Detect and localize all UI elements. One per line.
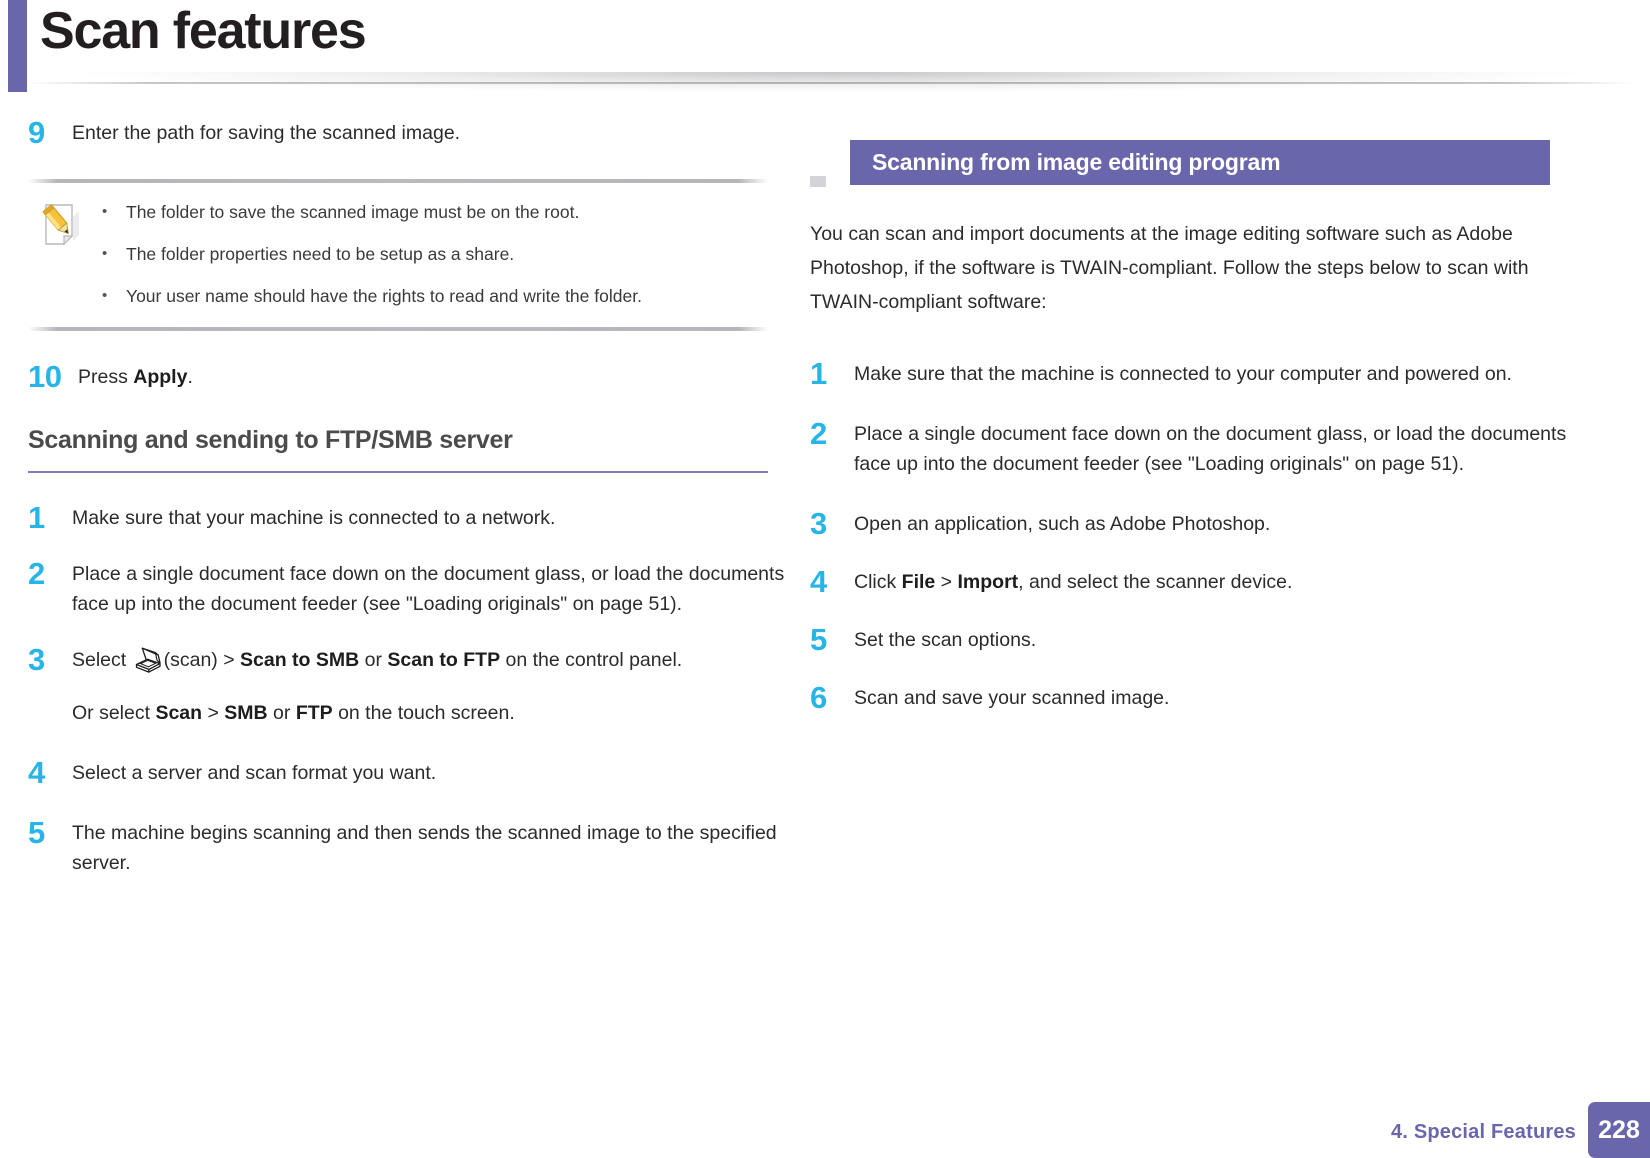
note-icon-cell (28, 200, 102, 253)
step-number: 1 (28, 503, 72, 533)
note-list: • The folder to save the scanned image m… (102, 200, 768, 308)
step-number: 4 (810, 567, 854, 597)
step-text: The machine begins scanning and then sen… (72, 818, 788, 878)
bullet-icon: • (102, 242, 126, 266)
substep-sep: > (202, 702, 224, 724)
step-text: Select (scan) > Scan to SMB or Scan to F… (72, 645, 788, 728)
step-text-post: , and select the scanner device. (1018, 571, 1292, 593)
step-number: 6 (810, 683, 854, 713)
substep-bold-2: SMB (224, 702, 267, 724)
step-number: 5 (28, 818, 72, 848)
step-text: Make sure that the machine is connected … (854, 359, 1570, 389)
step-item: 10 Press Apply. (28, 362, 788, 392)
scanner-icon (133, 647, 163, 682)
left-column: 9 Enter the path for saving the scanned … (28, 118, 788, 904)
step-text-bold-2: Import (958, 571, 1019, 593)
section-heading-rule (28, 471, 768, 473)
footer-page-number: 228 (1588, 1102, 1650, 1158)
section-heading-bar: Scanning from image editing program (850, 140, 1550, 185)
step-number: 9 (28, 118, 72, 148)
step-number: 5 (810, 625, 854, 655)
step-text: Set the scan options. (854, 625, 1570, 655)
step-text: Open an application, such as Adobe Photo… (854, 509, 1570, 539)
right-column: Scanning from image editing program You … (810, 140, 1570, 713)
bullet-icon: • (102, 284, 126, 308)
step-text: Press Apply. (78, 362, 788, 392)
step-text: Make sure that your machine is connected… (72, 503, 788, 533)
step-number: 2 (810, 419, 854, 449)
step-text-mid: (scan) > (164, 649, 240, 671)
intro-paragraph: You can scan and import documents at the… (810, 217, 1550, 319)
step-subtext: Or select Scan > SMB or FTP on the touch… (72, 698, 788, 728)
step-item: 3 Open an application, such as Adobe Pho… (810, 509, 1570, 539)
note-top-rule (28, 174, 768, 188)
step-text-post: . (187, 366, 192, 388)
step-item: 1 Make sure that the machine is connecte… (810, 359, 1570, 389)
step-item: 4 Click File > Import, and select the sc… (810, 567, 1570, 597)
step-text: Enter the path for saving the scanned im… (72, 118, 788, 148)
step-number: 10 (28, 362, 78, 392)
step-text-bold: Apply (133, 366, 187, 388)
note-item: • Your user name should have the rights … (102, 284, 768, 308)
step-text-bold-1: Scan to SMB (240, 649, 359, 671)
note-item-text: The folder to save the scanned image mus… (126, 200, 579, 224)
page-title: Scan features (40, 4, 365, 59)
step-text: Place a single document face down on the… (854, 419, 1570, 479)
step-item: 9 Enter the path for saving the scanned … (28, 118, 788, 148)
step-text-bold-1: File (902, 571, 936, 593)
note-item: • The folder to save the scanned image m… (102, 200, 768, 224)
bullet-icon: • (102, 200, 126, 224)
step-number: 2 (28, 559, 72, 589)
footer-section-label: 4. Special Features (1391, 1121, 1576, 1144)
substep-bold-1: Scan (155, 702, 202, 724)
step-number: 4 (28, 758, 72, 788)
step-item: 2 Place a single document face down on t… (810, 419, 1570, 479)
step-text-pre: Select (72, 649, 132, 671)
step-item: 4 Select a server and scan format you wa… (28, 758, 788, 788)
section-heading-label: Scanning from image editing program (872, 149, 1280, 176)
note-bottom-rule (28, 322, 768, 336)
step-item: 1 Make sure that your machine is connect… (28, 503, 788, 533)
step-text-sep: > (935, 571, 957, 593)
step-text: Place a single document face down on the… (72, 559, 788, 619)
note-item-text: Your user name should have the rights to… (126, 284, 642, 308)
header-divider (20, 72, 1640, 98)
step-text-or: or (359, 649, 387, 671)
step-text-pre: Press (78, 366, 133, 388)
substep-bold-3: FTP (296, 702, 333, 724)
step-text-post: on the control panel. (500, 649, 682, 671)
substep-or: or (268, 702, 296, 724)
page-footer: 4. Special Features 228 (1090, 1094, 1650, 1158)
step-item: 2 Place a single document face down on t… (28, 559, 788, 619)
substep-pre: Or select (72, 702, 155, 724)
note-item: • The folder properties need to be setup… (102, 242, 768, 266)
note-pencil-icon (40, 202, 82, 253)
step-text-bold-2: Scan to FTP (387, 649, 500, 671)
step-text: Scan and save your scanned image. (854, 683, 1570, 713)
section-heading-image-editing: Scanning from image editing program (810, 140, 1550, 187)
step-text: Select a server and scan format you want… (72, 758, 788, 788)
substep-post: on the touch screen. (333, 702, 515, 724)
step-text: Click File > Import, and select the scan… (854, 567, 1570, 597)
section-heading-ftp-smb: Scanning and sending to FTP/SMB server (28, 426, 788, 455)
page-header: Scan features (0, 0, 1650, 100)
note-box: • The folder to save the scanned image m… (28, 174, 768, 336)
step-number: 3 (28, 645, 72, 675)
section-heading-tab (810, 176, 826, 187)
step-number: 1 (810, 359, 854, 389)
step-text-pre: Click (854, 571, 902, 593)
step-item: 6 Scan and save your scanned image. (810, 683, 1570, 713)
note-item-text: The folder properties need to be setup a… (126, 242, 514, 266)
step-number: 3 (810, 509, 854, 539)
step-item: 5 The machine begins scanning and then s… (28, 818, 788, 878)
step-item: 3 Select (scan) > Scan to SMB or Scan to… (28, 645, 788, 728)
step-item: 5 Set the scan options. (810, 625, 1570, 655)
